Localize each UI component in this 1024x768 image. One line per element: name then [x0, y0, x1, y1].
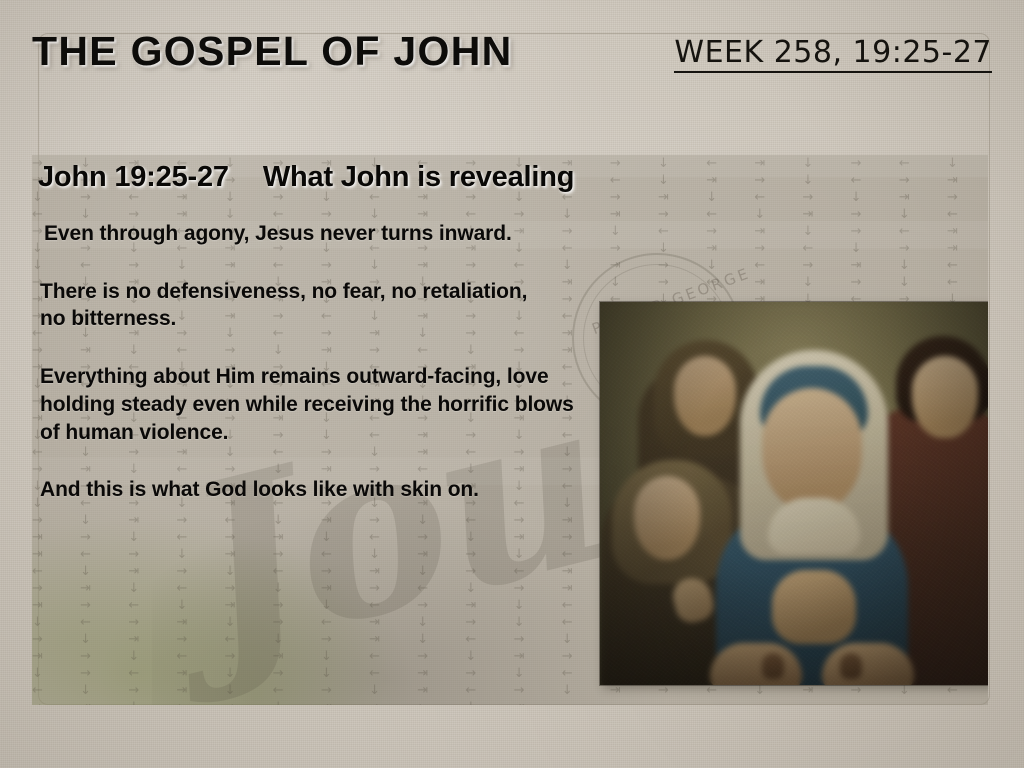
- slide-canvas: THE GOSPEL OF JOHN WEEK 258, 19:25-27 → …: [0, 0, 1024, 768]
- figure-center-scarf: [768, 498, 860, 554]
- figure-center-face: [762, 388, 862, 510]
- figure-back-left-face: [674, 356, 736, 436]
- page-title: THE GOSPEL OF JOHN: [32, 28, 513, 75]
- figure-center-hands: [772, 570, 856, 644]
- verse-heading: What John is revealing: [263, 161, 574, 193]
- body-paragraph: There is no defensiveness, no fear, no r…: [36, 278, 546, 333]
- body-paragraph: And this is what God looks like with ski…: [36, 476, 602, 504]
- slide-header: THE GOSPEL OF JOHN WEEK 258, 19:25-27: [0, 28, 1024, 90]
- toe-right: [840, 653, 862, 679]
- foot-right: [822, 643, 914, 685]
- body-paragraph: Everything about Him remains outward-fac…: [36, 363, 582, 446]
- week-reference: WEEK 258, 19:25-27: [674, 35, 992, 73]
- verse-title-line: John 19:25-27What John is revealing: [36, 161, 602, 194]
- verse-reference: John 19:25-27: [38, 161, 229, 193]
- figure-front-left-face: [634, 476, 700, 560]
- figure-right-face: [912, 356, 978, 438]
- painting-canvas: [600, 302, 988, 685]
- body-text-column: John 19:25-27What John is revealing Even…: [36, 161, 602, 530]
- toe-left: [762, 653, 784, 679]
- pierced-feet: [704, 637, 920, 685]
- painting-image: [600, 302, 988, 685]
- content-panel: → ↓ ⇥ ← ↓ → ⇥ ↓ ← → ↓ ⇥ → ↓ ← ⇥ ↓ → ← ↓ …: [32, 155, 988, 705]
- body-paragraph: Even through agony, Jesus never turns in…: [36, 220, 602, 248]
- foot-left: [710, 643, 802, 685]
